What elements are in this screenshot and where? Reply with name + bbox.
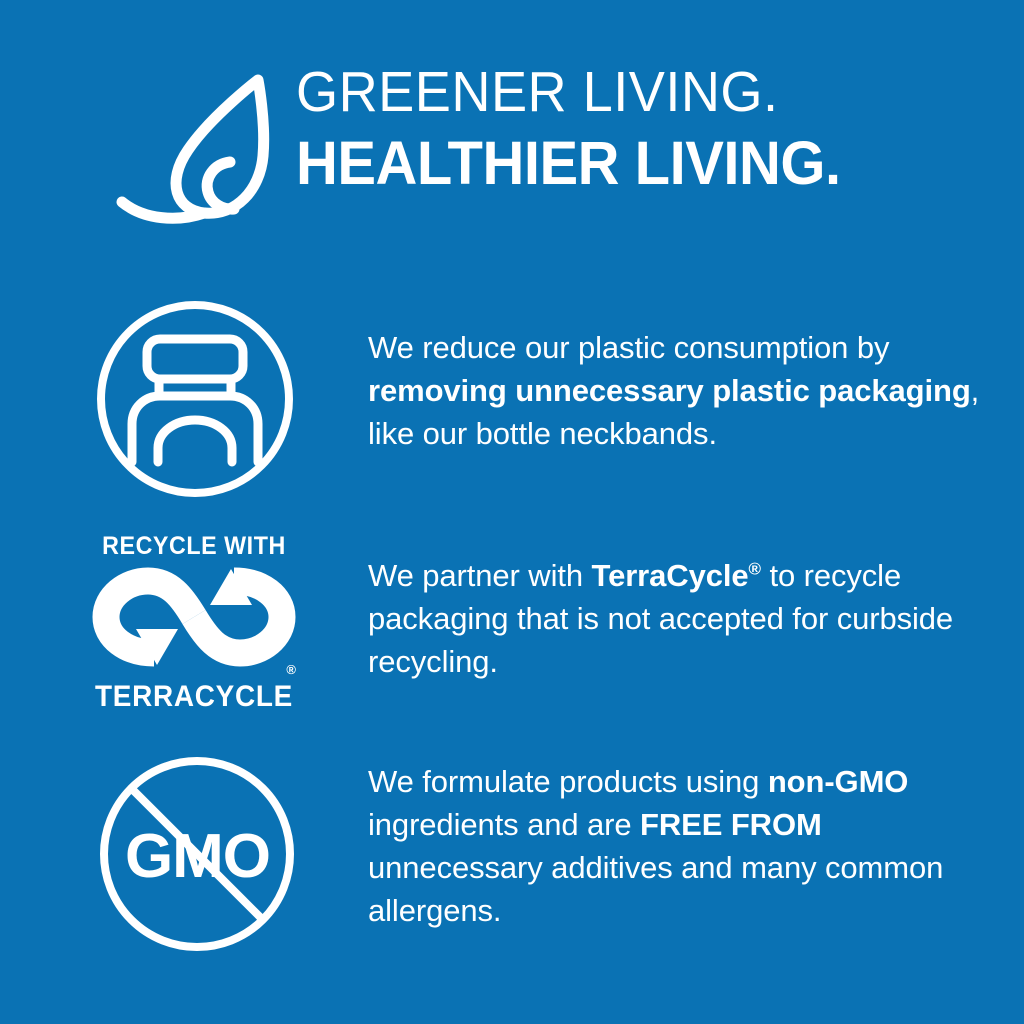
terracycle-infinity-icon <box>86 561 302 673</box>
greener-living-infographic: GREENER LIVING. HEALTHIER LIVING. <box>0 0 1024 1024</box>
gmo-text-part-2: ingredients and are <box>368 807 640 842</box>
terracycle-text-part-1: We partner with <box>368 558 592 593</box>
terracycle-logo-bottom-label: TERRACYCLE <box>94 680 295 714</box>
plastic-text-part-1: We reduce our plastic consumption by <box>368 330 889 365</box>
section-terracycle-text: We partner with TerraCycle® to recycle p… <box>368 554 988 683</box>
no-gmo-icon: GMO <box>90 752 305 957</box>
gmo-text-part-1: We formulate products using <box>368 764 768 799</box>
no-gmo-icon-label: GMO <box>90 754 305 959</box>
bottle-neckband-icon <box>92 296 298 502</box>
section-gmo-paragraph: We formulate products using non-GMO ingr… <box>368 760 988 932</box>
section-gmo-text: We formulate products using non-GMO ingr… <box>368 760 988 932</box>
terracycle-logo: RECYCLE WITH <box>86 528 302 718</box>
section-plastic-text: We reduce our plastic consumption by rem… <box>368 326 988 455</box>
terracycle-logo-top-label: RECYCLE WITH <box>94 532 295 561</box>
headline-greener: GREENER LIVING. <box>296 62 961 122</box>
terracycle-registered-icon: ® <box>286 663 296 676</box>
gmo-text-bold-1: non-GMO <box>768 764 908 799</box>
terracycle-text-bold-1: TerraCycle <box>592 558 749 593</box>
terracycle-registered-sup: ® <box>749 560 761 579</box>
section-plastic-paragraph: We reduce our plastic consumption by rem… <box>368 326 988 455</box>
plastic-text-bold-1: removing unnecessary plastic packaging <box>368 373 971 408</box>
header-text: GREENER LIVING. HEALTHIER LIVING. <box>296 62 996 196</box>
gmo-text-part-3: unnecessary additives and many common al… <box>368 850 943 928</box>
section-gmo-icon: GMO <box>90 752 305 957</box>
header: GREENER LIVING. HEALTHIER LIVING. <box>0 62 1024 232</box>
section-terracycle-paragraph: We partner with TerraCycle® to recycle p… <box>368 554 988 683</box>
section-terracycle-icon: RECYCLE WITH <box>86 528 302 718</box>
gmo-text-bold-2: FREE FROM <box>640 807 822 842</box>
leaf-icon <box>108 70 298 230</box>
headline-healthier: HEALTHIER LIVING. <box>296 130 961 196</box>
section-plastic-icon <box>92 296 298 502</box>
